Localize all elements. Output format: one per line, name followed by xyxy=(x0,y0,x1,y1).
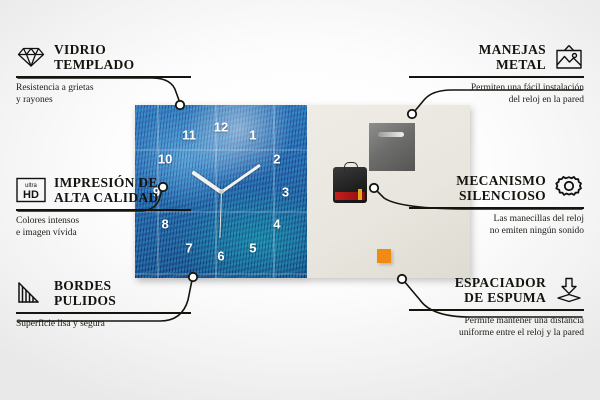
clock-numeral-2: 2 xyxy=(273,153,280,166)
product-infographic: 12 1 2 3 4 5 6 7 8 9 10 11 xyxy=(0,0,600,400)
callout-manejas-metal: MANEJAS METAL Permiten una fácil instala… xyxy=(409,42,584,107)
callout-header: ultra HD IMPRESIÓN DE ALTA CALIDAD xyxy=(16,175,191,205)
callout-subtitle: Permite mantener una distancia uniforme … xyxy=(409,315,584,340)
hanger-slot xyxy=(378,132,404,137)
clock-numeral-6: 6 xyxy=(217,250,224,263)
callout-title: MANEJAS METAL xyxy=(409,42,546,72)
callout-title: BORDES PULIDOS xyxy=(54,278,191,308)
callout-header: ESPACIADOR DE ESPUMA xyxy=(409,275,584,305)
callout-title: MECANISMO SILENCIOSO xyxy=(409,173,546,203)
picture-frame-hanger-icon xyxy=(554,42,584,72)
gear-icon xyxy=(554,173,584,203)
callout-mecanismo-silencioso: MECANISMO SILENCIOSO Las manecillas del … xyxy=(409,173,584,238)
clock-numeral-12: 12 xyxy=(214,121,228,134)
foam-spacer-pad xyxy=(377,249,391,263)
polished-edge-icon xyxy=(16,278,46,308)
callout-vidrio-templado: VIDRIO TEMPLADO Resistencia a grietas y … xyxy=(16,42,191,107)
callout-bordes-pulidos: BORDES PULIDOS Superficie lisa y segura xyxy=(16,278,191,330)
clock-numeral-4: 4 xyxy=(273,217,280,230)
callout-subtitle: Las manecillas del reloj no emiten ningú… xyxy=(409,213,584,238)
clock-numeral-3: 3 xyxy=(282,185,289,198)
callout-divider xyxy=(16,312,191,314)
callout-subtitle: Resistencia a grietas y rayones xyxy=(16,82,191,107)
clock-center-cap xyxy=(219,189,224,194)
clock-numeral-7: 7 xyxy=(186,241,193,254)
callout-header: BORDES PULIDOS xyxy=(16,278,191,308)
callout-title: VIDRIO TEMPLADO xyxy=(54,42,191,72)
clock-numeral-11: 11 xyxy=(182,129,196,142)
quartz-mechanism xyxy=(333,167,367,203)
callout-divider xyxy=(16,76,191,78)
spacer-arrow-icon xyxy=(554,275,584,305)
callout-title: IMPRESIÓN DE ALTA CALIDAD xyxy=(54,175,191,205)
callout-header: MANEJAS METAL xyxy=(409,42,584,72)
callout-header: VIDRIO TEMPLADO xyxy=(16,42,191,72)
callout-subtitle: Permiten una fácil instalación del reloj… xyxy=(409,82,584,107)
callout-title: ESPACIADOR DE ESPUMA xyxy=(409,275,546,305)
callout-header: MECANISMO SILENCIOSO xyxy=(409,173,584,203)
clock-numeral-5: 5 xyxy=(249,241,256,254)
svg-text:HD: HD xyxy=(23,189,39,201)
callout-divider xyxy=(409,309,584,311)
callout-espaciador-de-espuma: ESPACIADOR DE ESPUMA Permite mantener un… xyxy=(409,275,584,340)
metal-hanger-plate xyxy=(369,123,415,171)
callout-subtitle: Superficie lisa y segura xyxy=(16,318,191,331)
callout-subtitle: Colores intensos e imagen vívida xyxy=(16,215,191,240)
ultra-hd-icon: ultra HD xyxy=(16,175,46,205)
clock-numeral-1: 1 xyxy=(249,129,256,142)
callout-impresion-alta-calidad: ultra HD IMPRESIÓN DE ALTA CALIDAD Color… xyxy=(16,175,191,240)
mechanism-label xyxy=(335,192,365,200)
callout-divider xyxy=(409,76,584,78)
diamond-icon xyxy=(16,42,46,72)
clock-numeral-10: 10 xyxy=(158,153,172,166)
callout-divider xyxy=(16,209,191,211)
callout-divider xyxy=(409,207,584,209)
mechanism-hook xyxy=(344,162,358,171)
